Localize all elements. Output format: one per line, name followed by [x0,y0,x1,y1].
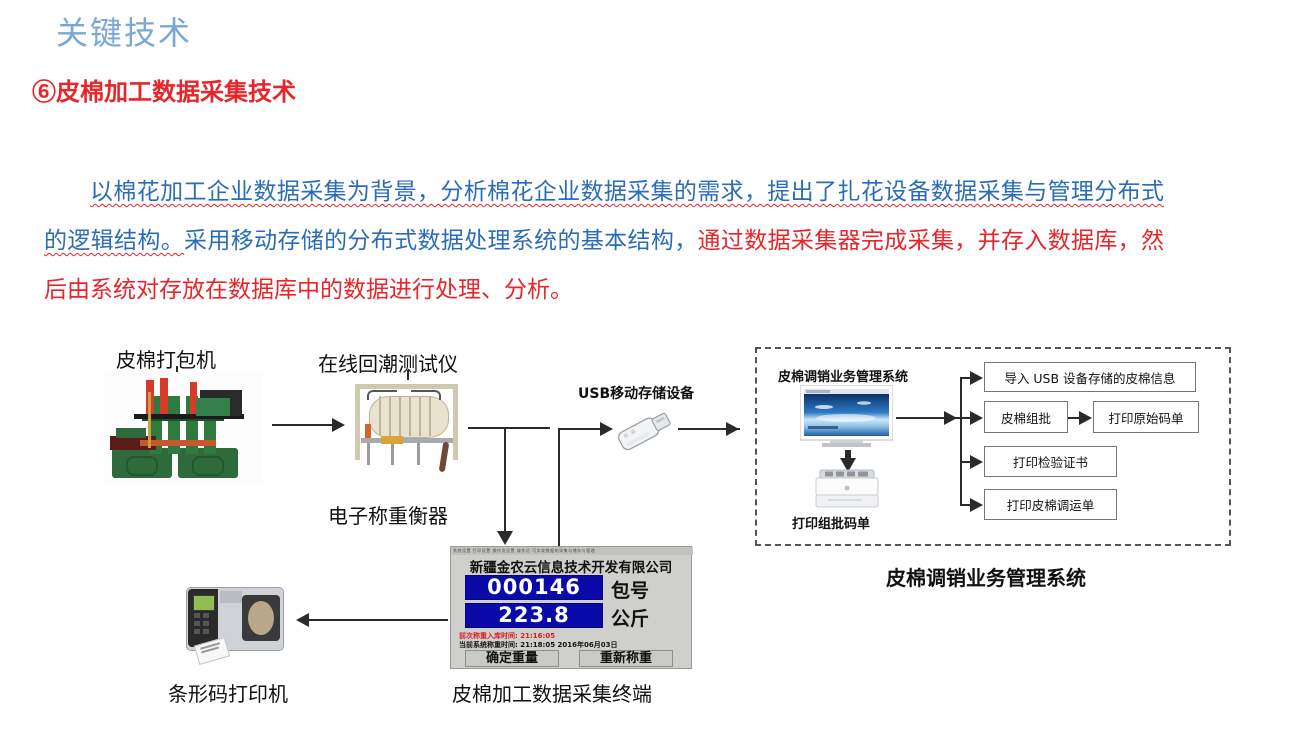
label-terminal: 皮棉加工数据采集终端 [452,678,652,707]
label-weighing-scale: 电子称重衡器 [328,500,448,529]
process-box-print-original-code[interactable]: 打印原始码单 [1093,401,1199,433]
arrow-group-to-origcode [1079,411,1092,425]
baling-press-icon [104,372,262,484]
connector-terminal-to-usb [558,428,604,430]
connector-terminal-to-barcode-printer [308,619,448,621]
barcode-printer-icon [186,583,290,659]
label-moisture-tester: 在线回潮测试仪 [318,348,458,377]
current-system-time: 当前系统称重时间: 21:18:05 2016年06月03日 [459,640,617,650]
arrow-bus-to-dispatch [970,498,983,512]
arrow-usb-to-system [726,422,739,436]
section-heading: ⑥皮棉加工数据采集技术 [32,72,296,107]
page-title: 关键技术 [56,8,192,54]
confirm-weight-button[interactable]: 确定重量 [465,650,559,667]
bale-number-unit: 包号 [611,576,649,603]
process-box-print-certificate[interactable]: 打印检验证书 [984,446,1117,477]
arrow-bus-to-import [970,371,983,385]
weight-display: 223.8 [465,603,603,628]
connector-tester-right [468,427,550,429]
connector-baler-to-tester [272,424,334,426]
paragraph-plain-segment: 采用移动存储的分布式数据处理系统的基本结构， [184,228,698,254]
weight-unit: 公斤 [611,604,649,631]
terminal-menubar[interactable]: 系统设置 打印设置 操作员设置 操作员 可实现数据的采集与储存与管理 [451,547,693,555]
label-baler: 皮棉打包机 [116,344,216,373]
system-caption: 皮棉调销业务管理系统 [886,562,1086,591]
arrow-baler-to-tester [332,418,345,432]
body-paragraph: 以棉花加工企业数据采集为背景，分析棉花企业数据采集的需求，提出了扎花设备数据采集… [44,168,1164,315]
terminal-company-name: 新疆金农云信息技术开发有限公司 [451,556,691,576]
usb-flash-drive-icon [612,408,678,454]
printer-label: 打印组批码单 [792,513,870,532]
arrow-bus-to-cert [970,455,983,469]
label-barcode-printer: 条形码打印机 [168,678,288,707]
reweigh-button[interactable]: 重新称重 [579,650,673,667]
arrow-to-barcode-printer [296,613,309,627]
process-box-group-batching[interactable]: 皮棉组批 [984,401,1068,433]
arrow-terminal-to-usb [600,422,613,436]
printer-icon [812,468,882,510]
arrow-into-terminal [497,531,513,545]
arrow-bus-to-group [970,411,983,425]
connector-tester-down [504,427,506,535]
arrow-monitor-to-bus [944,411,957,425]
connector-vertical-bus [960,377,962,505]
monitor-icon [800,385,893,447]
system-title: 皮棉调销业务管理系统 [778,366,908,385]
bale-number-display: 000146 [465,575,603,600]
moisture-tester-icon [345,380,475,485]
process-box-print-dispatch-note[interactable]: 打印皮棉调运单 [984,489,1117,520]
label-usb-device: USB移动存储设备 [578,383,694,403]
process-box-import-usb[interactable]: 导入 USB 设备存储的皮棉信息 [984,362,1196,392]
connector-terminal-up [558,428,560,546]
data-collection-terminal[interactable]: 系统设置 打印设置 操作员设置 操作员 可实现数据的采集与储存与管理 新疆金农云… [450,546,692,669]
